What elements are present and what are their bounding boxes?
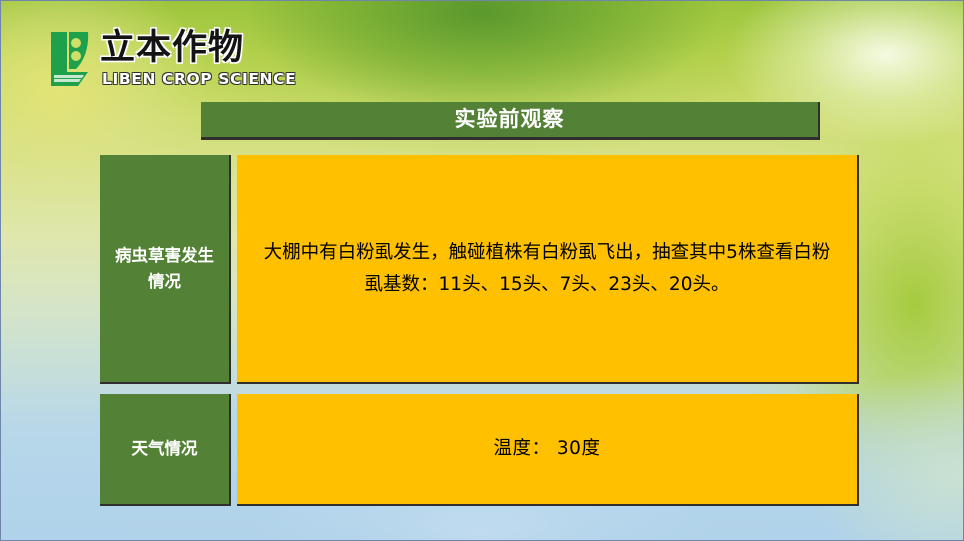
row-content-weather: 温度： 30度: [237, 394, 859, 506]
row-content-pest-occurrence: 大棚中有白粉虱发生，触碰植株有白粉虱飞出，抽查其中5株查看白粉虱基数：11头、1…: [237, 155, 859, 384]
row-label-pest-occurrence: 病虫草害发生情况: [100, 155, 231, 384]
table-row: 天气情况 温度： 30度: [100, 394, 859, 506]
table-row: 病虫草害发生情况 大棚中有白粉虱发生，触碰植株有白粉虱飞出，抽查其中5株查看白粉…: [100, 155, 859, 384]
weather-temperature-text: 温度： 30度: [494, 433, 601, 465]
pest-occurrence-text: 大棚中有白粉虱发生，触碰植株有白粉虱飞出，抽查其中5株查看白粉虱基数：11头、1…: [261, 237, 833, 301]
row-label-weather: 天气情况: [100, 394, 231, 506]
slide-canvas: 立本作物 LIBEN CROP SCIENCE 实验前观察 病虫草害发生情况 大…: [0, 0, 964, 541]
logo-chinese-name: 立本作物: [100, 26, 244, 70]
company-logo: 立本作物 LIBEN CROP SCIENCE: [48, 26, 248, 94]
logo-english-name: LIBEN CROP SCIENCE: [102, 70, 296, 88]
slide-title-bar: 实验前观察: [201, 102, 820, 140]
liben-lb-leaf-logo-icon: [48, 28, 94, 90]
page-title: 实验前观察: [455, 109, 565, 130]
